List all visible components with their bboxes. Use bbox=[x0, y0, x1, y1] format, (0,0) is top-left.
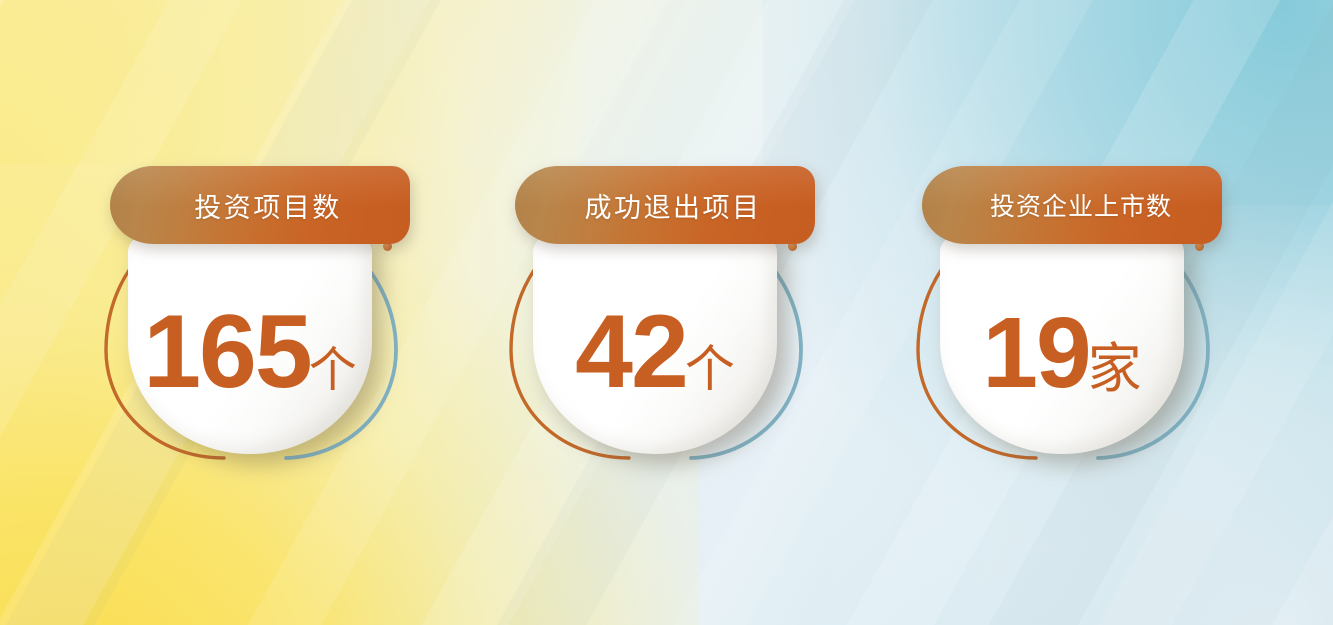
card-value-row: 42 个 bbox=[533, 236, 777, 454]
card-value-row: 19 家 bbox=[940, 236, 1184, 454]
card-header-banner[interactable]: 投资项目数 bbox=[110, 166, 410, 244]
card-value-unit: 家 bbox=[1088, 342, 1142, 396]
card-value-number: 19 bbox=[982, 310, 1089, 396]
card-value-row: 165 个 bbox=[128, 236, 372, 454]
stat-card-successful-exits[interactable]: 成功退出项目 42 个 bbox=[505, 158, 825, 468]
infographic-stage: 投资项目数 165 个 成功退出项目 bbox=[0, 0, 1333, 625]
stat-card-group: 投资项目数 165 个 成功退出项目 bbox=[0, 0, 1333, 625]
stat-card-investment-projects[interactable]: 投资项目数 165 个 bbox=[100, 158, 420, 468]
card-value-number: 165 bbox=[143, 308, 311, 397]
card-title: 投资项目数 bbox=[178, 186, 342, 225]
card-value-unit: 个 bbox=[309, 346, 357, 398]
card-header-banner[interactable]: 成功退出项目 bbox=[515, 166, 815, 244]
card-value-number: 42 bbox=[575, 308, 687, 397]
card-value-unit: 个 bbox=[685, 344, 735, 398]
card-title: 投资企业上市数 bbox=[972, 187, 1172, 223]
stat-card-listed-companies[interactable]: 投资企业上市数 19 家 bbox=[912, 158, 1232, 468]
card-title: 成功退出项目 bbox=[569, 186, 762, 225]
card-header-banner[interactable]: 投资企业上市数 bbox=[922, 166, 1222, 244]
